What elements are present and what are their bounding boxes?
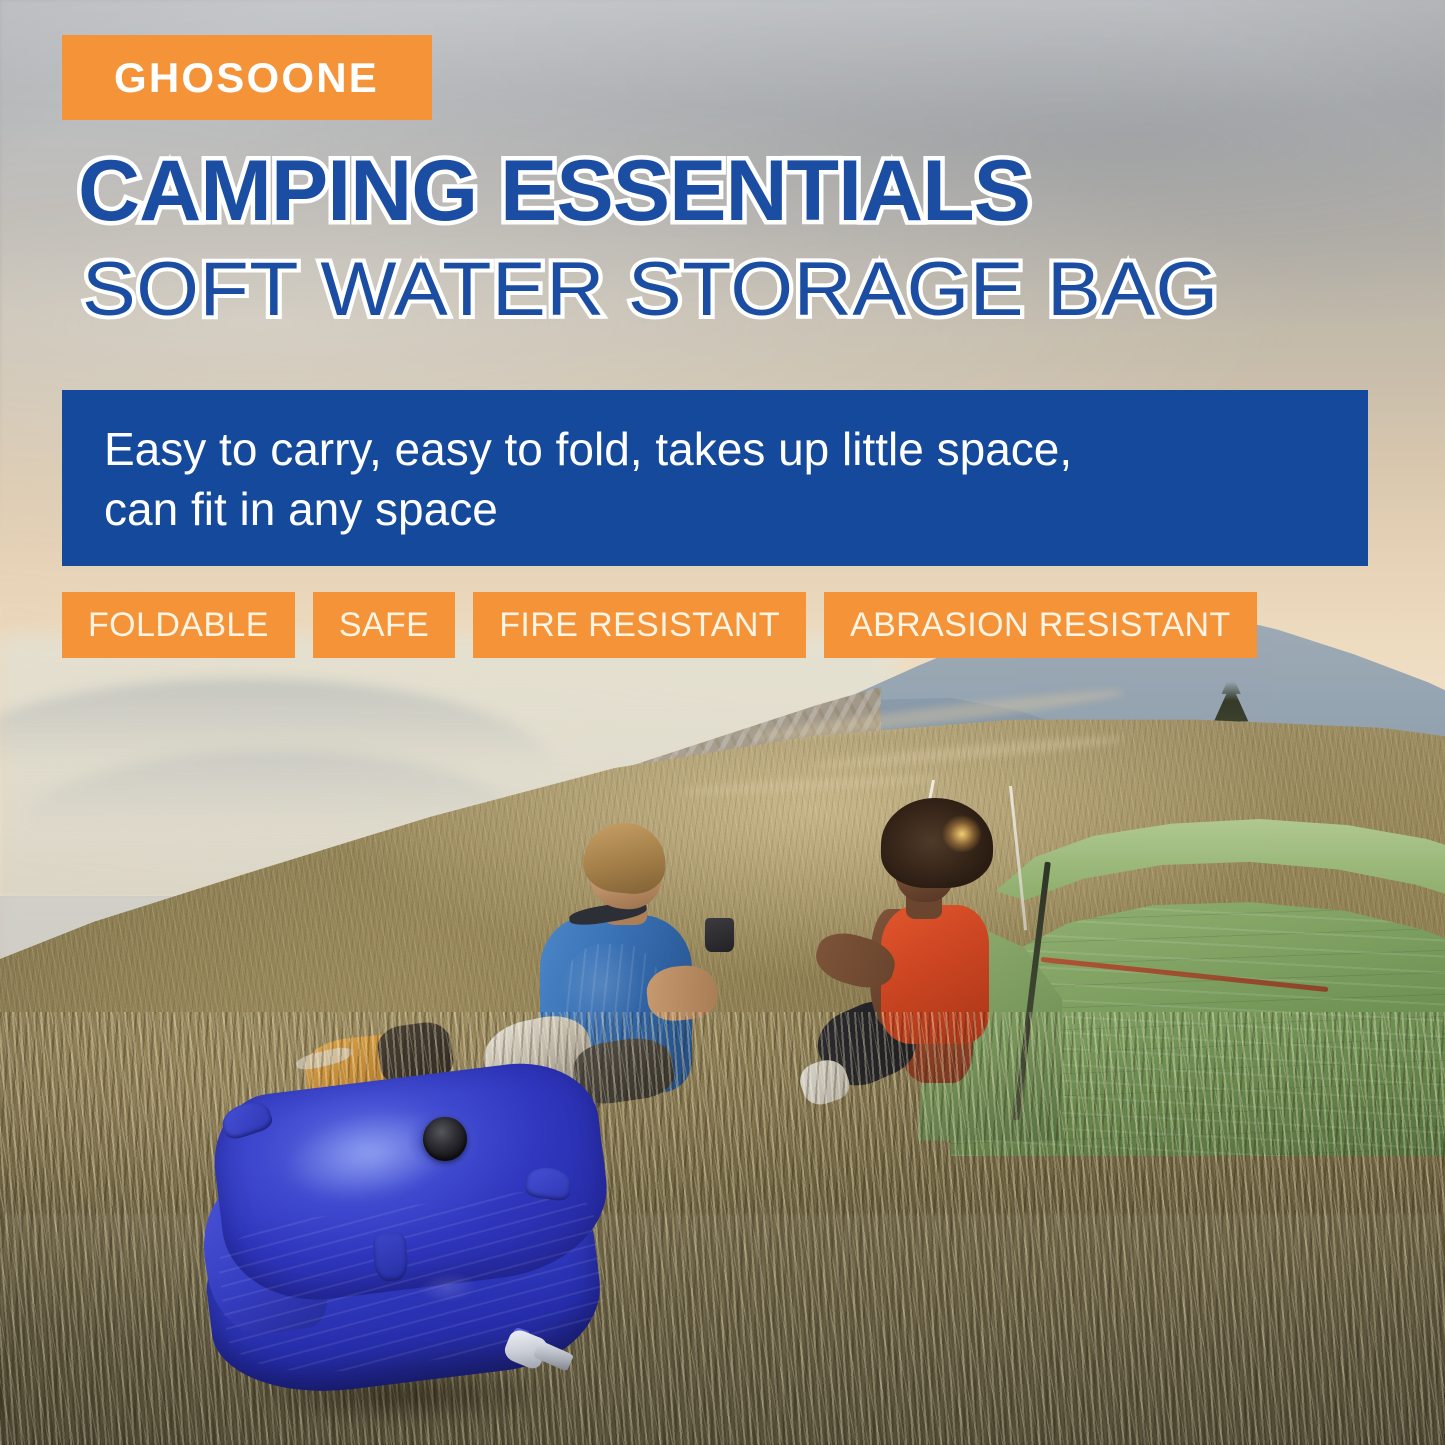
headline-primary: CAMPING ESSENTIALS [78, 148, 1030, 234]
product-marketing-image: GHOSOONE CAMPING ESSENTIALS SOFT WATER S… [0, 0, 1445, 1445]
headline-secondary: SOFT WATER STORAGE BAG [82, 252, 1219, 328]
brand-badge: GHOSOONE [62, 35, 432, 120]
feature-tag-label: FIRE RESISTANT [499, 606, 780, 645]
feature-tag-label: FOLDABLE [88, 606, 269, 645]
description-box: Easy to carry, easy to fold, takes up li… [62, 390, 1368, 566]
feature-tag-label: ABRASION RESISTANT [850, 606, 1231, 645]
feature-tag-fire-resistant: FIRE RESISTANT [473, 592, 806, 658]
description-line-1: Easy to carry, easy to fold, takes up li… [104, 420, 1328, 480]
brand-name: GHOSOONE [62, 54, 379, 102]
feature-tag-abrasion-resistant: ABRASION RESISTANT [824, 592, 1257, 658]
feature-tag-foldable: FOLDABLE [62, 592, 295, 658]
feature-tag-safe: SAFE [313, 592, 455, 658]
description-line-2: can fit in any space [104, 480, 1328, 540]
feature-tag-row: FOLDABLE SAFE FIRE RESISTANT ABRASION RE… [62, 592, 1257, 658]
feature-tag-label: SAFE [339, 606, 429, 645]
